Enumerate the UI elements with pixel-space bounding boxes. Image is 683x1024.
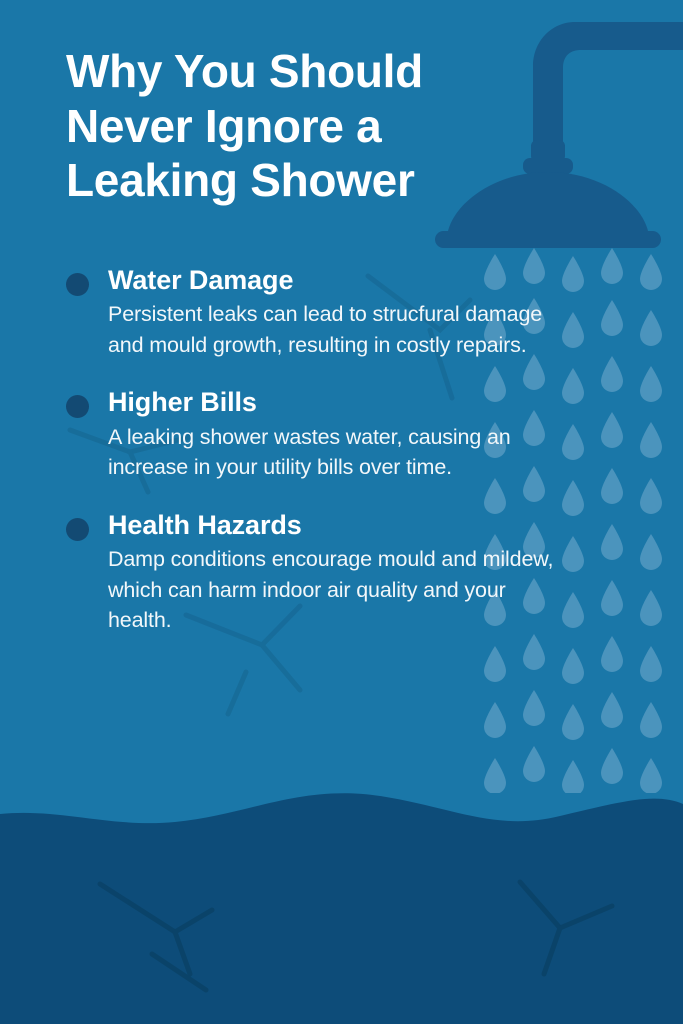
point-body: Damp conditions encourage mould and mild… xyxy=(108,544,560,636)
list-item: Water Damage Persistent leaks can lead t… xyxy=(60,264,560,360)
bullet-icon xyxy=(66,518,89,541)
bullet-icon xyxy=(66,273,89,296)
points-list: Water Damage Persistent leaks can lead t… xyxy=(60,264,560,662)
list-item: Health Hazards Damp conditions encourage… xyxy=(60,509,560,636)
point-heading: Water Damage xyxy=(108,264,560,296)
page-title: Why You Should Never Ignore a Leaking Sh… xyxy=(66,44,546,208)
list-item: Higher Bills A leaking shower wastes wat… xyxy=(60,386,560,482)
point-heading: Health Hazards xyxy=(108,509,560,541)
infographic-poster: Why You Should Never Ignore a Leaking Sh… xyxy=(0,0,683,1024)
point-heading: Higher Bills xyxy=(108,386,560,418)
title-line-3: Leaking Shower xyxy=(66,154,415,206)
point-body: A leaking shower wastes water, causing a… xyxy=(108,422,560,483)
title-line-2: Never Ignore a xyxy=(66,100,381,152)
bullet-icon xyxy=(66,395,89,418)
title-line-1: Why You Should xyxy=(66,45,423,97)
point-body: Persistent leaks can lead to strucfural … xyxy=(108,299,560,360)
wave-divider-icon xyxy=(0,774,683,1024)
